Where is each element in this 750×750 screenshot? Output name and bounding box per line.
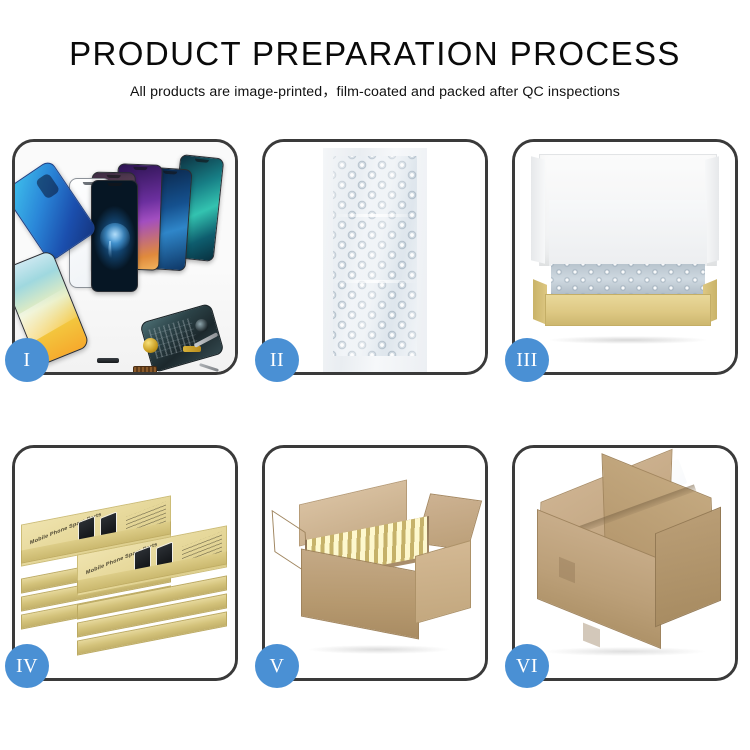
steps-grid: I II bbox=[12, 139, 738, 681]
page-subtitle: All products are image-printed，film-coat… bbox=[0, 83, 750, 101]
kraft-box-stack: Mobile Phone Spare Parts Mobile Phone Sp… bbox=[15, 448, 235, 678]
box-front-panel bbox=[545, 294, 711, 326]
step-panel-2: II bbox=[262, 139, 488, 375]
product-preparation-infographic: PRODUCT PREPARATION PROCESS All products… bbox=[0, 0, 750, 750]
bubble-wrap-wrapped-item bbox=[333, 156, 417, 356]
carton-handle-tab bbox=[583, 623, 600, 648]
box-lid-left-flap bbox=[531, 156, 545, 263]
step-badge-5: V bbox=[255, 644, 299, 688]
bubble-wrapped-item-in-box bbox=[551, 264, 705, 298]
part-flex-cable-icon bbox=[183, 346, 201, 352]
box-drop-shadow bbox=[549, 336, 707, 344]
step-image-bubble-wrap bbox=[265, 142, 485, 372]
part-chip-icon bbox=[133, 366, 157, 372]
step-image-inner-box-packing bbox=[515, 142, 735, 372]
bubble-wrap-fold bbox=[333, 214, 417, 217]
step-panel-1: I bbox=[12, 139, 238, 375]
carton-drop-shadow bbox=[309, 645, 449, 654]
part-coin-icon bbox=[143, 338, 158, 353]
step-panel-3: III bbox=[512, 139, 738, 375]
carton-drop-shadow bbox=[545, 647, 705, 656]
jellyfish-wallpaper bbox=[100, 223, 130, 253]
step-panel-5: V bbox=[262, 445, 488, 681]
phone-jellyfish-screen-icon bbox=[91, 180, 138, 292]
part-strip-icon bbox=[97, 358, 119, 363]
camera-lens-icon bbox=[35, 172, 61, 199]
step-image-carton-filling bbox=[265, 448, 485, 678]
header: PRODUCT PREPARATION PROCESS All products… bbox=[0, 34, 750, 101]
carton-side-panel bbox=[415, 540, 471, 624]
kraft-box-labeled: Mobile Phone Spare Parts bbox=[77, 540, 227, 566]
step-panel-4: Mobile Phone Spare Parts Mobile Phone Sp… bbox=[12, 445, 238, 681]
plastic-sheen bbox=[333, 156, 417, 356]
step-image-boxes-stacked: Mobile Phone Spare Parts Mobile Phone Sp… bbox=[15, 448, 235, 678]
step-badge-1: I bbox=[5, 338, 49, 382]
step-panel-6: VI bbox=[512, 445, 738, 681]
step-badge-6: VI bbox=[505, 644, 549, 688]
step-badge-3: III bbox=[505, 338, 549, 382]
step-image-carton-sealed bbox=[515, 448, 735, 678]
foam-insert-icon bbox=[549, 200, 707, 266]
box-lid-right-flap bbox=[705, 156, 719, 263]
bubble-wrap-fold bbox=[333, 280, 417, 283]
step-image-products-and-spare-parts bbox=[15, 142, 235, 372]
kraft-box-labeled: Mobile Phone Spare Parts bbox=[21, 510, 171, 536]
step-badge-2: II bbox=[255, 338, 299, 382]
step-badge-4: IV bbox=[5, 644, 49, 688]
page-title: PRODUCT PREPARATION PROCESS bbox=[0, 34, 750, 74]
